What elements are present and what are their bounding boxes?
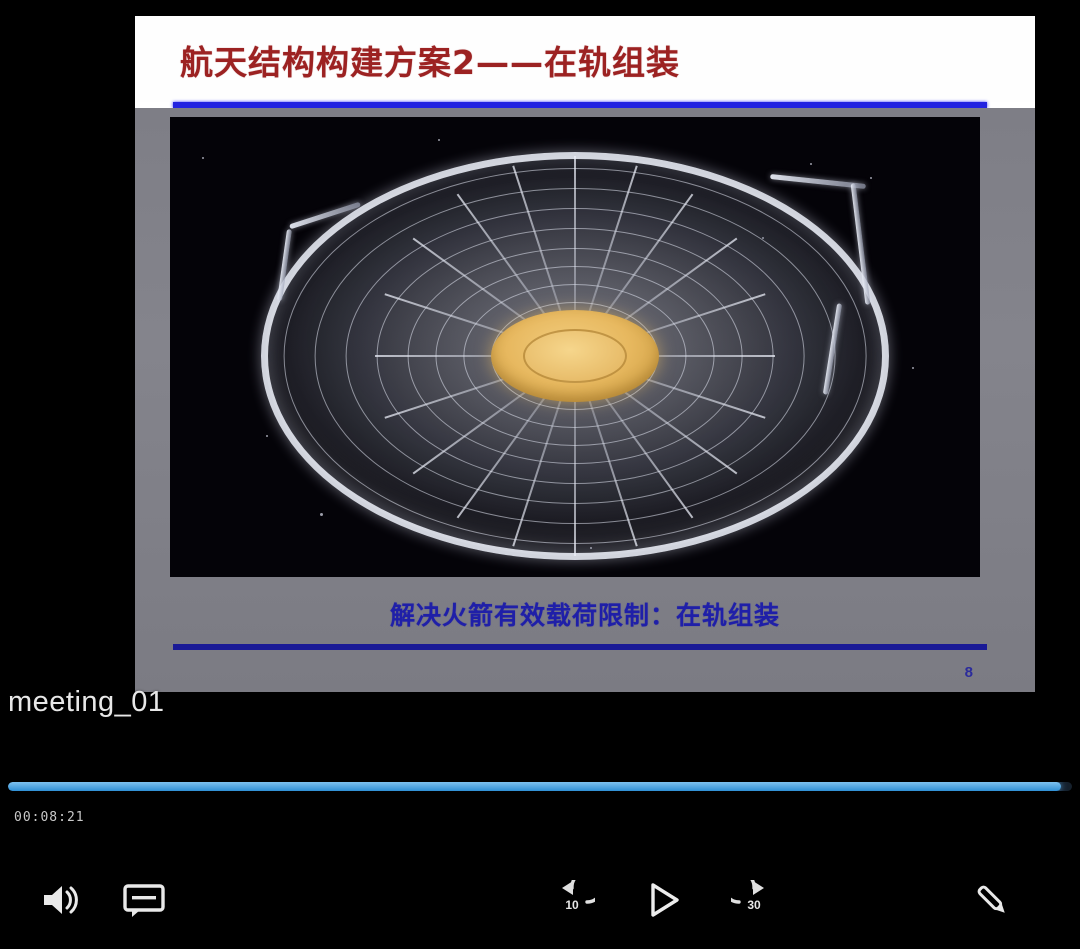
slide-caption: 解决火箭有效载荷限制：在轨组装 — [135, 596, 1035, 632]
slide-page-number: 8 — [965, 664, 973, 681]
slide-title-band: 航天结构构建方案2——在轨组装 — [135, 16, 1035, 102]
antenna-feed-hub — [491, 310, 659, 402]
progress-bar-fill — [8, 782, 1061, 791]
player-control-bar: 10 30 — [0, 850, 1080, 949]
progress-bar[interactable] — [8, 782, 1072, 791]
slide-figure-space-antenna — [170, 117, 980, 577]
rewind-10-icon[interactable]: 10 — [540, 868, 604, 932]
volume-icon[interactable] — [28, 868, 92, 932]
video-player-screen: 航天结构构建方案2——在轨组装 — [0, 0, 1080, 949]
rewind-seconds-label: 10 — [540, 868, 604, 932]
file-name-label: meeting_01 — [8, 686, 165, 719]
forward-seconds-label: 30 — [722, 868, 786, 932]
current-time-label: 00:08:21 — [14, 810, 85, 825]
presentation-slide: 航天结构构建方案2——在轨组装 — [135, 16, 1035, 692]
play-icon[interactable] — [632, 868, 696, 932]
slide-body: 解决火箭有效载荷限制：在轨组装 8 — [135, 108, 1035, 692]
mesh-reflector-dish — [265, 156, 885, 556]
subtitles-icon[interactable] — [112, 868, 176, 932]
slide-caption-divider — [173, 644, 987, 650]
slide-title: 航天结构构建方案2——在轨组装 — [180, 36, 680, 84]
edit-icon[interactable] — [960, 868, 1024, 932]
forward-30-icon[interactable]: 30 — [722, 868, 786, 932]
progress-zone: 00:08:21 — [0, 760, 1080, 820]
video-stage[interactable]: 航天结构构建方案2——在轨组装 — [0, 0, 1080, 760]
